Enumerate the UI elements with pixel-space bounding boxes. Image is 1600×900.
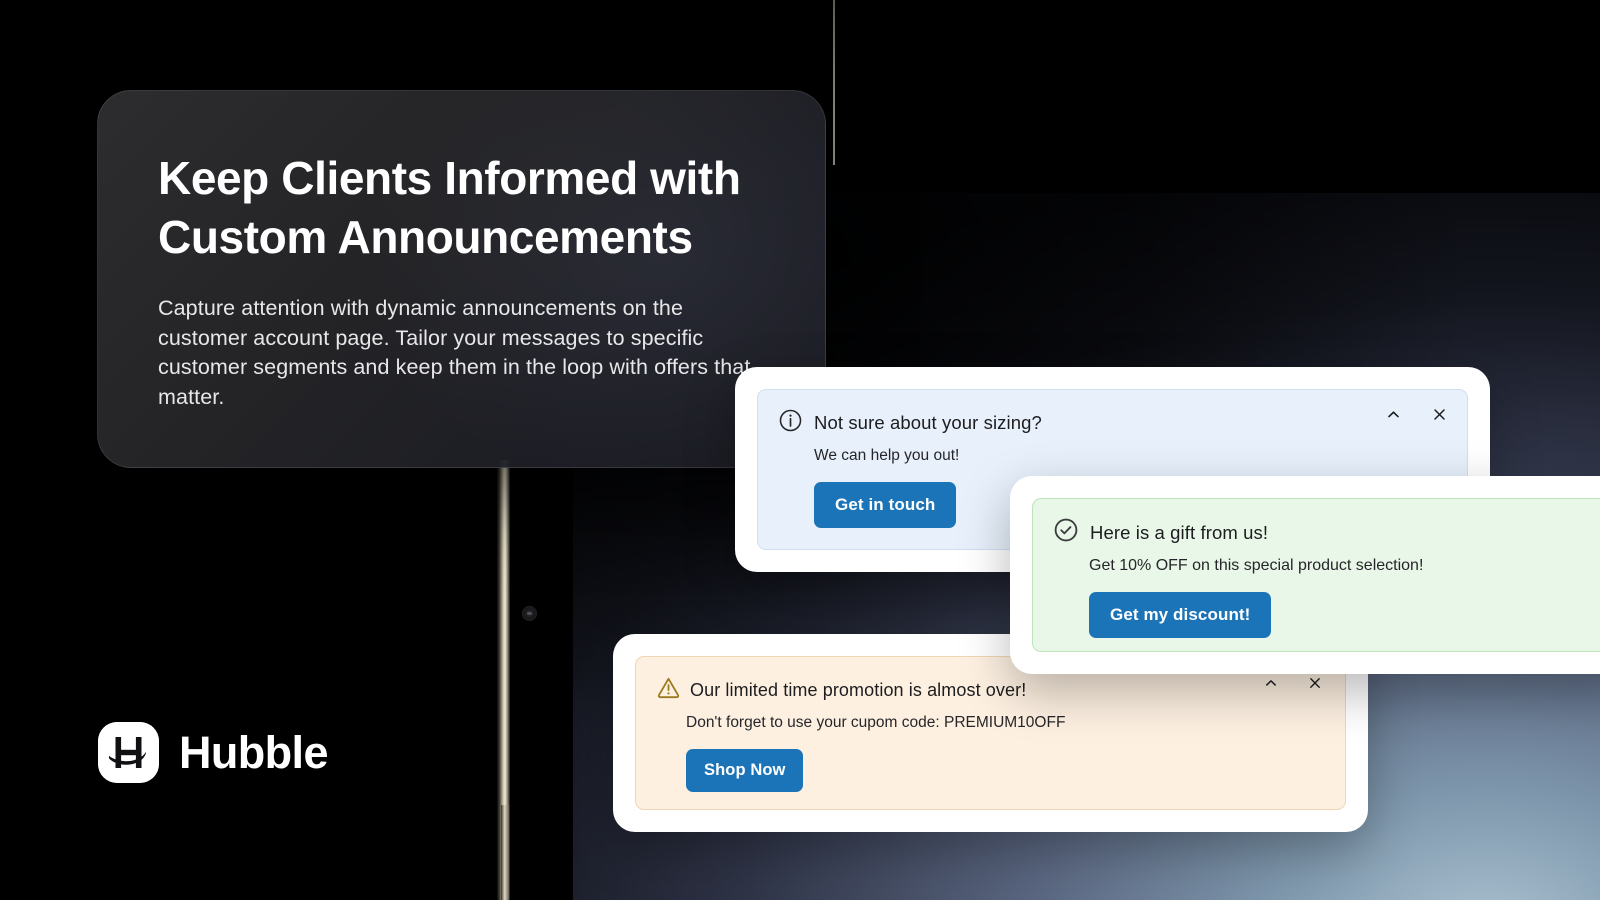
hero-subtitle: Capture attention with dynamic announcem… <box>158 294 767 412</box>
announcement-card-success: Here is a gift from us! Get 10% OFF on t… <box>1010 476 1600 674</box>
announcement-info-controls <box>1383 404 1449 424</box>
announcement-success-body: Get 10% OFF on this special product sele… <box>1089 557 1587 575</box>
announcement-warning-controls <box>1261 673 1325 693</box>
close-icon[interactable] <box>1305 673 1325 693</box>
page-title: Keep Clients Informed with Custom Announ… <box>158 149 767 267</box>
brand-logo: Hubble <box>98 722 328 783</box>
announcement-success-title: Here is a gift from us! <box>1090 522 1268 544</box>
hero-card: Keep Clients Informed with Custom Announ… <box>97 90 826 468</box>
announcement-warning-body: Don't forget to use your cupom code: PRE… <box>686 714 1325 732</box>
chevron-up-icon[interactable] <box>1261 673 1281 693</box>
warning-triangle-icon <box>656 675 681 705</box>
close-icon[interactable] <box>1429 404 1449 424</box>
get-my-discount-button[interactable]: Get my discount! <box>1089 592 1271 638</box>
announcement-success-inner: Here is a gift from us! Get 10% OFF on t… <box>1032 498 1600 652</box>
brand-name: Hubble <box>179 727 328 779</box>
announcement-warning-title: Our limited time promotion is almost ove… <box>690 680 1026 701</box>
laptop-webcam-icon <box>522 606 537 621</box>
announcement-warning-header: Our limited time promotion is almost ove… <box>656 675 1325 705</box>
announcement-info-body: We can help you out! <box>814 447 1447 465</box>
shop-now-button[interactable]: Shop Now <box>686 749 803 792</box>
announcement-success-header: Here is a gift from us! <box>1053 517 1587 548</box>
chevron-up-icon[interactable] <box>1383 404 1403 424</box>
laptop-lid-edge-lower <box>501 805 509 900</box>
announcement-info-title: Not sure about your sizing? <box>814 412 1042 434</box>
get-in-touch-button[interactable]: Get in touch <box>814 482 956 528</box>
screenshot-stage: Keep Clients Informed with Custom Announ… <box>0 0 1600 900</box>
hubble-logo-icon <box>98 722 159 783</box>
announcement-info-header: Not sure about your sizing? <box>778 408 1447 438</box>
check-circle-icon <box>1053 517 1079 548</box>
announcement-warning-inner: Our limited time promotion is almost ove… <box>635 656 1346 810</box>
info-circle-icon <box>778 408 803 438</box>
